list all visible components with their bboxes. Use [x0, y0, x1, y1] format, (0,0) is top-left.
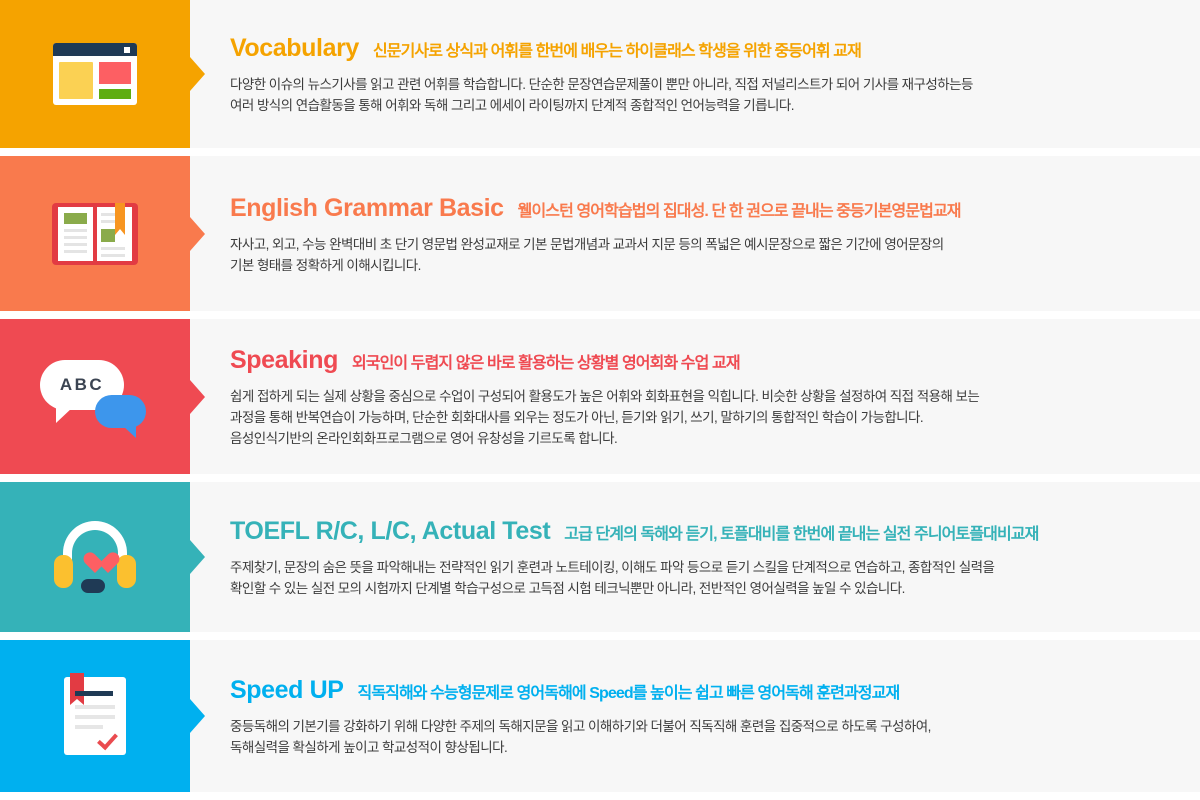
card-title-toefl: TOEFL R/C, L/C, Actual Test 고급 단계의 독해와 듣… [230, 517, 1182, 546]
card-body-line: 다양한 이슈의 뉴스기사를 읽고 관련 어휘를 학습합니다. 단순한 문장연습문… [230, 74, 1182, 95]
icon-column-vocabulary [0, 0, 190, 148]
card-body-line: 여러 방식의 연습활동을 통해 어휘와 독해 그리고 에세이 라이팅까지 단계적… [230, 95, 1182, 116]
newspaper-icon [53, 43, 137, 105]
card-body-line: 과정을 통해 반복연습이 가능하며, 단순한 회화대사를 외우는 정도가 아닌,… [230, 407, 1182, 428]
text-column-speaking: Speaking 외국인이 두렵지 않은 바로 활용하는 상황별 영어회화 수업… [190, 319, 1200, 474]
text-column-vocabulary: Vocabulary 신문기사로 상식과 어휘를 한번에 배우는 하이클래스 학… [190, 0, 1200, 148]
headphones-heart-icon [54, 521, 136, 593]
icon-column-speaking: ABC [0, 319, 190, 474]
document-check-icon [64, 677, 126, 755]
speech-bubble-abc-icon: ABC [40, 360, 150, 434]
title-en: Vocabulary [230, 34, 359, 63]
text-column-toefl: TOEFL R/C, L/C, Actual Test 고급 단계의 독해와 듣… [190, 482, 1200, 632]
course-card-english-grammar-basic[interactable]: English Grammar Basic 웰이스턴 영어학습법의 집대성. 단… [0, 156, 1200, 311]
title-en: Speaking [230, 346, 338, 375]
title-kr: 직독직해와 수능형문제로 영어독해에 Speed를 높이는 쉽고 빠른 영어독해… [358, 679, 900, 703]
card-body-line: 중등독해의 기본기를 강화하기 위해 다양한 주제의 독해지문을 읽고 이해하기… [230, 716, 1182, 737]
course-card-vocabulary[interactable]: Vocabulary 신문기사로 상식과 어휘를 한번에 배우는 하이클래스 학… [0, 0, 1200, 148]
course-card-speaking[interactable]: ABC Speaking 외국인이 두렵지 않은 바로 활용하는 상황별 영어회… [0, 319, 1200, 474]
card-body-line: 기본 형태를 정확하게 이해시킵니다. [230, 255, 1182, 276]
card-body-line: 주제찾기, 문장의 숨은 뜻을 파악해내는 전략적인 읽기 훈련과 노트테이킹,… [230, 557, 1182, 578]
card-title-english-grammar-basic: English Grammar Basic 웰이스턴 영어학습법의 집대성. 단… [230, 194, 1182, 223]
open-book-icon [52, 203, 138, 265]
course-card-toefl[interactable]: TOEFL R/C, L/C, Actual Test 고급 단계의 독해와 듣… [0, 482, 1200, 632]
card-body-line: 독해실력을 확실하게 높이고 학교성적이 향상됩니다. [230, 737, 1182, 758]
title-kr: 웰이스턴 영어학습법의 집대성. 단 한 권으로 끝내는 중등기본영문법교재 [518, 197, 961, 221]
card-title-vocabulary: Vocabulary 신문기사로 상식과 어휘를 한번에 배우는 하이클래스 학… [230, 34, 1182, 63]
course-card-speed-up[interactable]: Speed UP 직독직해와 수능형문제로 영어독해에 Speed를 높이는 쉽… [0, 640, 1200, 792]
title-kr: 외국인이 두렵지 않은 바로 활용하는 상황별 영어회화 수업 교재 [352, 349, 740, 373]
card-body-line: 음성인식기반의 온라인회화프로그램으로 영어 유창성을 기르도록 합니다. [230, 428, 1182, 449]
title-en: English Grammar Basic [230, 194, 504, 223]
icon-column-english-grammar-basic [0, 156, 190, 311]
card-body-line: 쉽게 접하게 되는 실제 상황을 중심으로 수업이 구성되어 활용도가 높은 어… [230, 386, 1182, 407]
title-kr: 신문기사로 상식과 어휘를 한번에 배우는 하이클래스 학생을 위한 중등어휘 … [373, 37, 861, 61]
text-column-speed-up: Speed UP 직독직해와 수능형문제로 영어독해에 Speed를 높이는 쉽… [190, 640, 1200, 792]
title-en: TOEFL R/C, L/C, Actual Test [230, 517, 550, 546]
title-kr: 고급 단계의 독해와 듣기, 토플대비를 한번에 끝내는 실전 주니어토플대비교… [564, 520, 1038, 544]
icon-column-toefl [0, 482, 190, 632]
title-en: Speed UP [230, 676, 344, 705]
card-title-speaking: Speaking 외국인이 두렵지 않은 바로 활용하는 상황별 영어회화 수업… [230, 346, 1182, 375]
card-body-line: 자사고, 외고, 수능 완벽대비 초 단기 영문법 완성교재로 기본 문법개념과… [230, 234, 1182, 255]
course-list-page: Vocabulary 신문기사로 상식과 어휘를 한번에 배우는 하이클래스 학… [0, 0, 1200, 800]
card-title-speed-up: Speed UP 직독직해와 수능형문제로 영어독해에 Speed를 높이는 쉽… [230, 676, 1182, 705]
speech-bubble-label: ABC [60, 375, 104, 395]
text-column-english-grammar-basic: English Grammar Basic 웰이스턴 영어학습법의 집대성. 단… [190, 156, 1200, 311]
card-body-line: 확인할 수 있는 실전 모의 시험까지 단계별 학습구성으로 고득점 시험 테크… [230, 578, 1182, 599]
icon-column-speed-up [0, 640, 190, 792]
